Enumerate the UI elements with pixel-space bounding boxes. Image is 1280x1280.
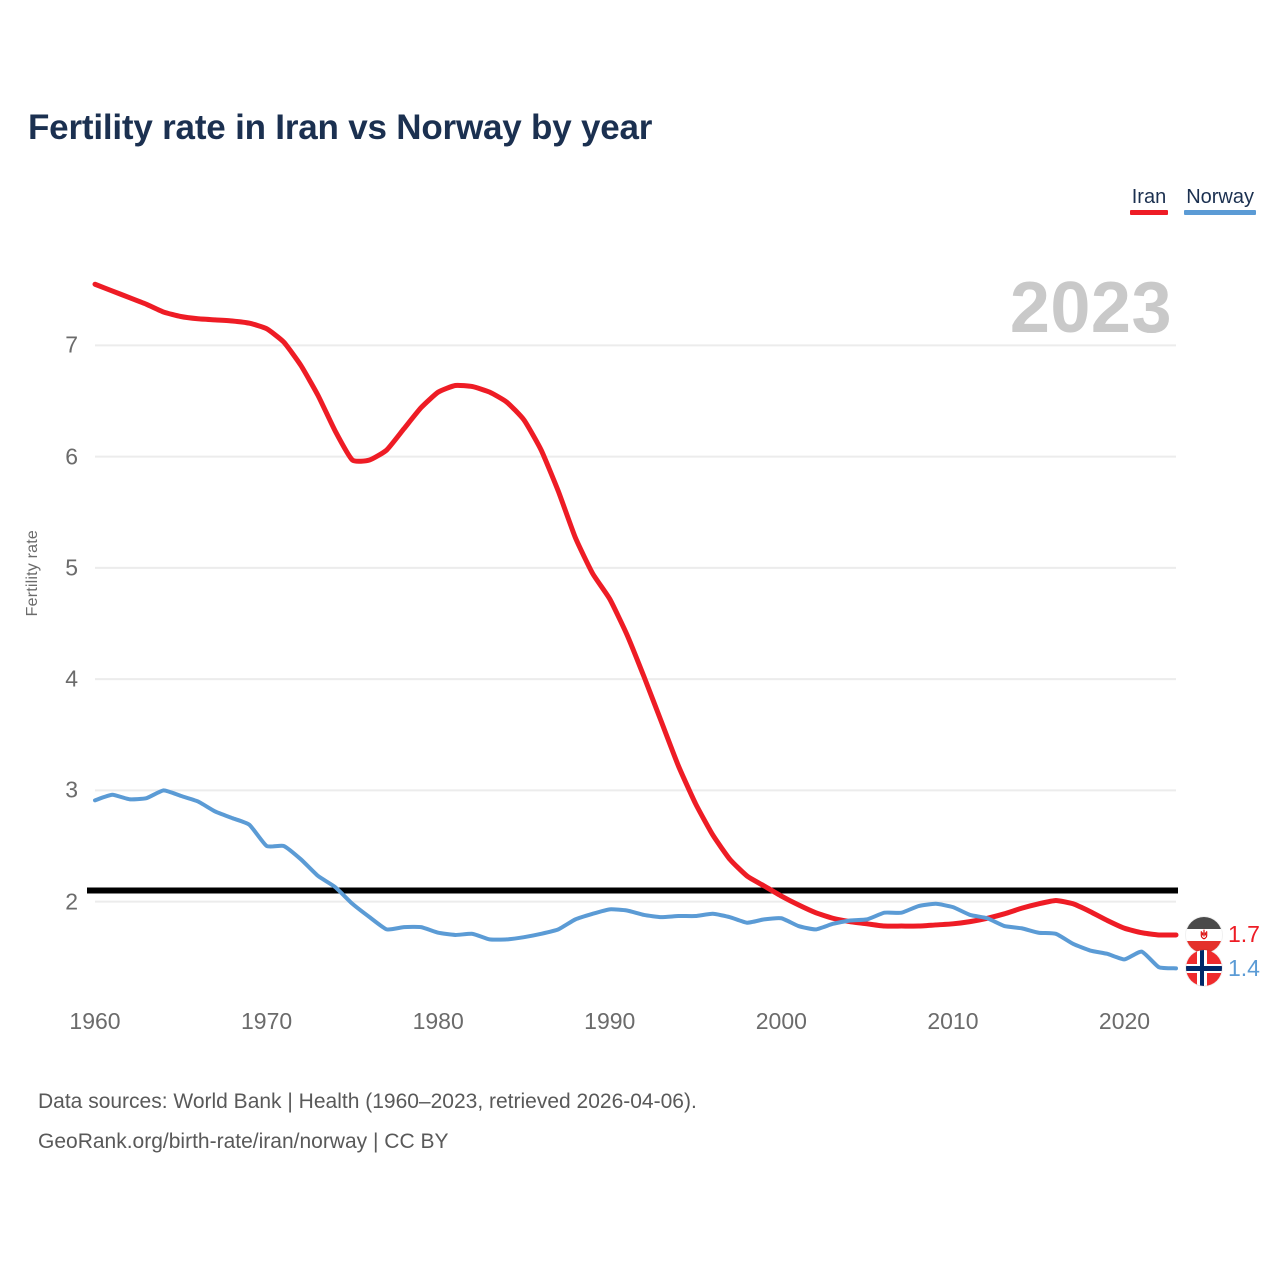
footer: Data sources: World Bank | Health (1960–… [38,1082,697,1162]
series-line-norway[interactable] [95,790,1176,968]
x-tick-label: 1990 [584,1008,635,1035]
end-value-norway: 1.4 [1228,955,1260,982]
legend-item-norway[interactable]: Norway [1184,186,1256,215]
y-tick-label: 4 [42,666,78,693]
x-tick-label: 2000 [756,1008,807,1035]
footer-data-sources: Data sources: World Bank | Health (1960–… [38,1082,697,1122]
norway-flag-icon [1186,950,1222,986]
end-value-iran: 1.7 [1228,921,1260,948]
y-tick-label: 2 [42,888,78,915]
legend-label-iran: Iran [1130,186,1168,208]
iran-emblem-icon [1198,928,1211,941]
end-marker-norway: 1.4 [1186,950,1260,986]
page-title: Fertility rate in Iran vs Norway by year [28,108,652,148]
x-tick-label: 1970 [241,1008,292,1035]
legend-swatch-norway [1184,210,1256,215]
year-watermark: 2023 [1010,272,1172,344]
y-tick-label: 5 [42,554,78,581]
chart-legend: Iran Norway [1130,186,1256,215]
x-tick-label: 1980 [413,1008,464,1035]
y-tick-label: 7 [42,332,78,359]
x-tick-label: 1960 [69,1008,120,1035]
end-marker-iran: 1.7 [1186,917,1260,953]
legend-swatch-iran [1130,210,1168,215]
y-tick-label: 3 [42,777,78,804]
legend-item-iran[interactable]: Iran [1130,186,1168,215]
x-tick-label: 2010 [927,1008,978,1035]
legend-label-norway: Norway [1184,186,1256,208]
series-line-iran[interactable] [95,284,1176,935]
chart-page: Fertility rate in Iran vs Norway by year… [0,0,1280,1280]
y-tick-label: 6 [42,443,78,470]
iran-flag-icon [1186,917,1222,953]
footer-attribution: GeoRank.org/birth-rate/iran/norway | CC … [38,1122,697,1162]
x-tick-label: 2020 [1099,1008,1150,1035]
